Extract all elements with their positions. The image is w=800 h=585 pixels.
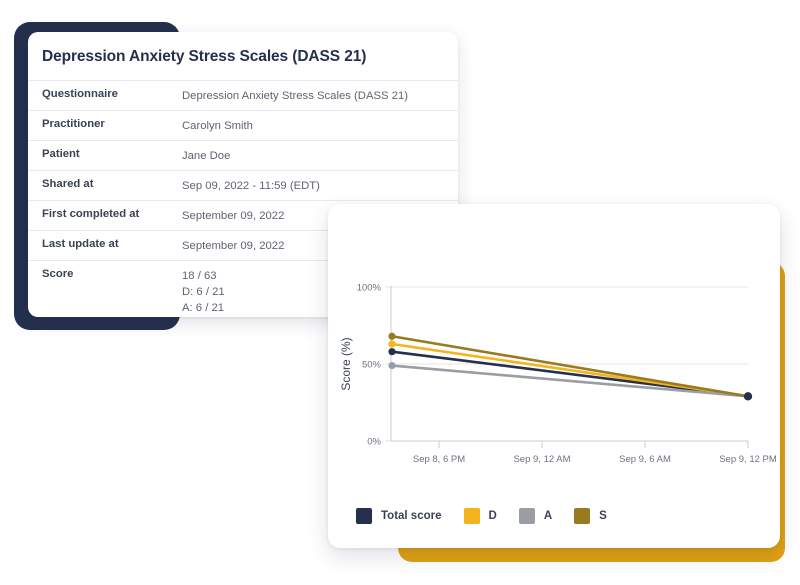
- legend-item[interactable]: Total score: [356, 508, 442, 524]
- detail-key: Score: [28, 261, 182, 317]
- detail-value: Depression Anxiety Stress Scales (DASS 2…: [182, 81, 458, 111]
- detail-key: Questionnaire: [28, 81, 182, 111]
- legend-item[interactable]: S: [574, 508, 607, 524]
- legend-swatch-icon: [356, 508, 372, 524]
- x-axis-tick-label: Sep 9, 6 AM: [619, 454, 671, 465]
- chart-legend: Total scoreDAS: [356, 508, 629, 524]
- legend-swatch-icon: [519, 508, 535, 524]
- x-axis-tick-label: Sep 9, 12 PM: [719, 454, 777, 465]
- legend-label: Total score: [381, 510, 442, 522]
- legend-swatch-icon: [574, 508, 590, 524]
- detail-value: Carolyn Smith: [182, 111, 458, 141]
- x-axis-tick-label: Sep 9, 12 AM: [513, 454, 570, 465]
- chart-card: 0%50%100%Sep 8, 6 PMSep 9, 12 AMSep 9, 6…: [328, 204, 780, 548]
- data-point-marker[interactable]: [388, 333, 395, 340]
- table-row: PatientJane Doe: [28, 141, 458, 171]
- y-axis-title: Score (%): [339, 337, 353, 390]
- legend-item[interactable]: A: [519, 508, 552, 524]
- detail-key: First completed at: [28, 201, 182, 231]
- page-title: Depression Anxiety Stress Scales (DASS 2…: [28, 32, 458, 80]
- y-axis-tick-label: 0%: [367, 437, 381, 448]
- table-row: QuestionnaireDepression Anxiety Stress S…: [28, 81, 458, 111]
- legend-swatch-icon: [464, 508, 480, 524]
- legend-item[interactable]: D: [464, 508, 497, 524]
- detail-key: Last update at: [28, 231, 182, 261]
- series-line[interactable]: [392, 336, 748, 396]
- x-axis-tick-label: Sep 8, 6 PM: [413, 454, 465, 465]
- data-point-marker[interactable]: [388, 340, 395, 347]
- y-axis-tick-label: 50%: [362, 360, 382, 371]
- table-row: Shared atSep 09, 2022 - 11:59 (EDT): [28, 171, 458, 201]
- legend-label: D: [489, 510, 497, 522]
- detail-value: Sep 09, 2022 - 11:59 (EDT): [182, 171, 458, 201]
- detail-key: Shared at: [28, 171, 182, 201]
- legend-label: A: [544, 510, 552, 522]
- table-row: PractitionerCarolyn Smith: [28, 111, 458, 141]
- detail-value: Jane Doe: [182, 141, 458, 171]
- score-line-chart: 0%50%100%Sep 8, 6 PMSep 9, 12 AMSep 9, 6…: [328, 204, 780, 484]
- data-point-marker[interactable]: [388, 348, 395, 355]
- legend-label: S: [599, 510, 607, 522]
- data-point-marker[interactable]: [744, 392, 752, 400]
- data-point-marker[interactable]: [388, 362, 395, 369]
- detail-key: Patient: [28, 141, 182, 171]
- y-axis-tick-label: 100%: [357, 283, 382, 294]
- detail-key: Practitioner: [28, 111, 182, 141]
